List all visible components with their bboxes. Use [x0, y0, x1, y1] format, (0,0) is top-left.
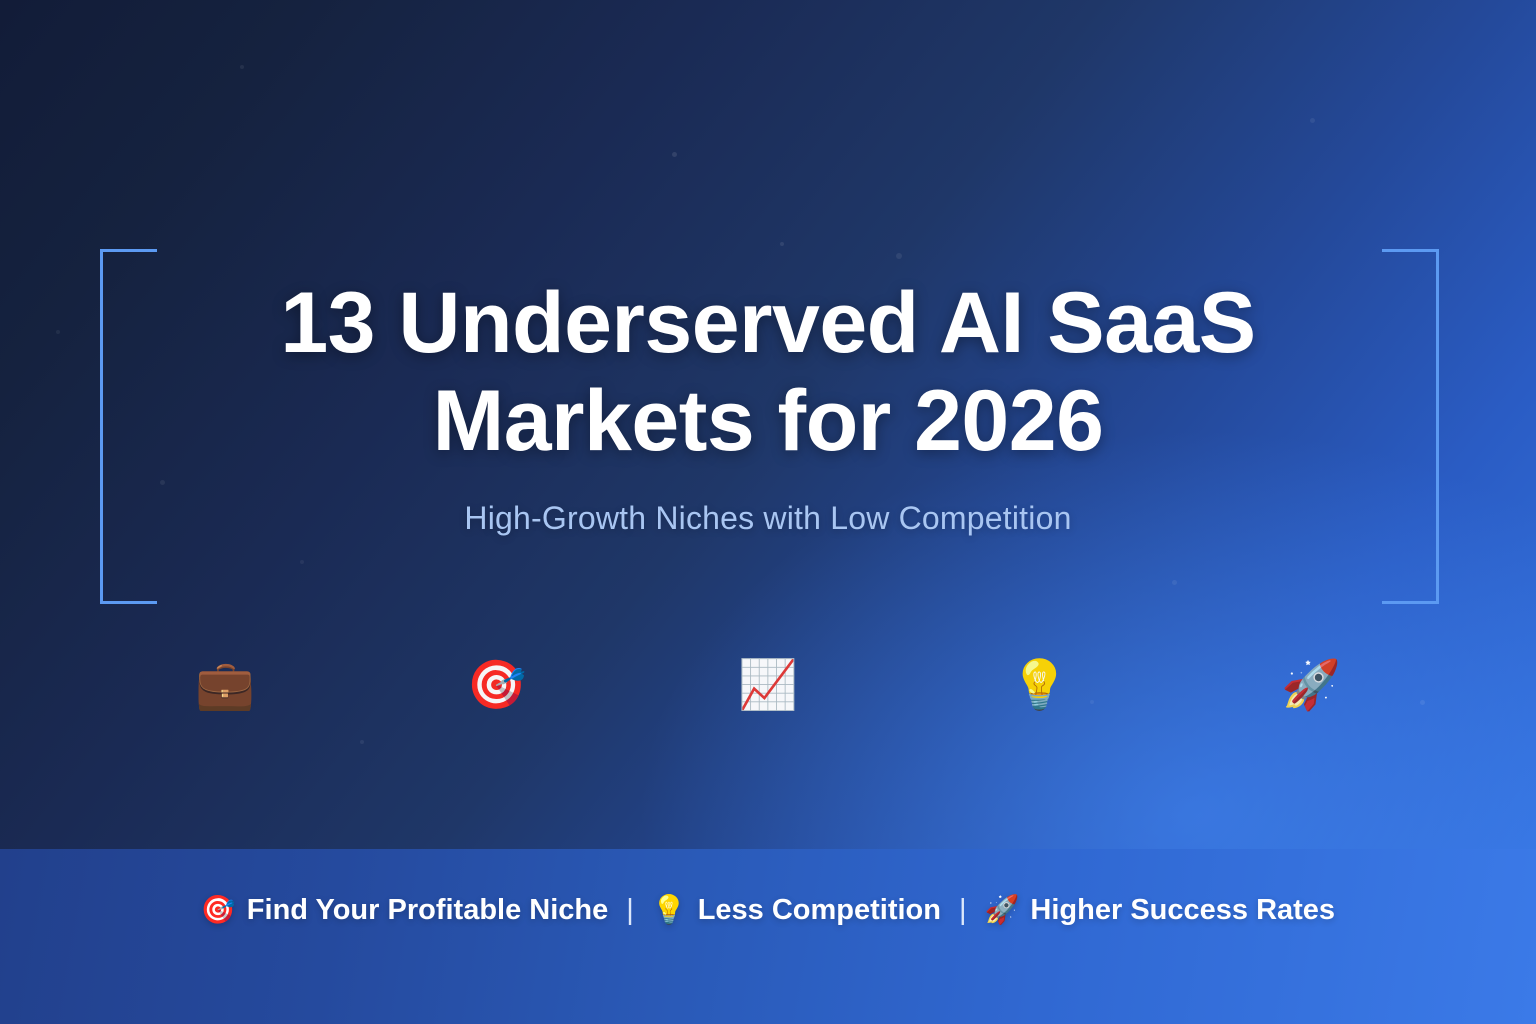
footer-item-success-rates: 🚀 Higher Success Rates [985, 894, 1336, 927]
footer-band: 🎯 Find Your Profitable Niche | 💡 Less Co… [0, 849, 1536, 1024]
particle-dot [1310, 118, 1315, 123]
dart-target-icon: 🎯 [422, 650, 572, 720]
left-bracket [100, 249, 157, 604]
icon-row: 💼 🎯 📈 💡 🚀 [150, 650, 1386, 720]
particle-dot [56, 330, 60, 334]
footer-item-find-niche: 🎯 Find Your Profitable Niche [201, 894, 608, 927]
particle-dot [1172, 580, 1177, 585]
particle-dot [780, 242, 784, 246]
particle-dot [160, 480, 165, 485]
footer-item-label: Find Your Profitable Niche [247, 894, 608, 927]
hero-background: 13 Underserved AI SaaS Markets for 2026 … [0, 0, 1536, 849]
chart-increasing-icon: 📈 [693, 650, 843, 720]
particle-dot [300, 560, 304, 564]
rocket-icon: 🚀 [985, 896, 1020, 924]
title-block: 13 Underserved AI SaaS Markets for 2026 … [168, 274, 1368, 537]
rocket-icon: 🚀 [1236, 650, 1386, 720]
footer-separator: | [941, 894, 985, 927]
footer-item-label: Less Competition [698, 894, 941, 927]
dart-target-icon: 🎯 [201, 896, 236, 924]
footer-item-label: Higher Success Rates [1030, 894, 1335, 927]
briefcase-icon: 💼 [150, 650, 300, 720]
footer-separator: | [608, 894, 652, 927]
lightbulb-icon: 💡 [965, 650, 1115, 720]
lightbulb-icon: 💡 [652, 896, 687, 924]
page-subtitle: High-Growth Niches with Low Competition [168, 500, 1368, 537]
footer-item-less-competition: 💡 Less Competition [652, 894, 941, 927]
particle-dot [896, 253, 902, 259]
page-title: 13 Underserved AI SaaS Markets for 2026 [168, 274, 1368, 470]
footer-tagline-strip: 🎯 Find Your Profitable Niche | 💡 Less Co… [0, 849, 1536, 971]
particle-dot [1420, 700, 1425, 705]
presentation-slide: 13 Underserved AI SaaS Markets for 2026 … [0, 0, 1536, 1024]
particle-dot [240, 65, 244, 69]
particle-dot [672, 152, 677, 157]
right-bracket [1382, 249, 1439, 604]
particle-dot [360, 740, 364, 744]
